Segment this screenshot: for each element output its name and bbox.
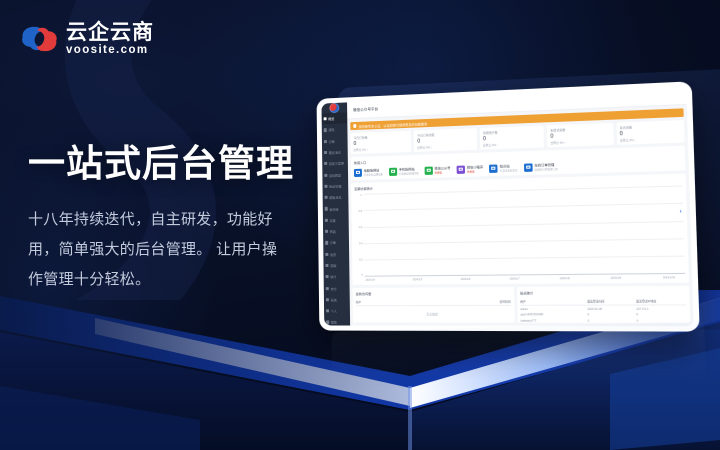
- wechat-icon: [424, 166, 432, 174]
- fans-icon: [324, 185, 327, 188]
- knowledge-icon: [489, 164, 498, 173]
- col-user: 用户: [520, 299, 587, 303]
- quick-entry-sub: 高效的订单管理工具: [534, 167, 557, 172]
- sidebar-item-label: 图文消息: [329, 150, 341, 155]
- dashboard-icon: [324, 117, 327, 120]
- x-tick-5: 2024/1/9: [611, 277, 621, 280]
- y-tick-0: 1: [360, 194, 361, 197]
- article-icon: [324, 151, 327, 154]
- brand-logo[interactable]: 云企云商 voosite.com: [20, 22, 154, 57]
- site-stats-title: 站点统计: [520, 289, 686, 295]
- quick-entry-item-4[interactable]: 知识站打造企业知识库: [489, 162, 517, 173]
- stat-compare: 比昨日 0% ↑: [620, 136, 681, 142]
- chart-toolbox[interactable]: ··· ⬇: [679, 205, 682, 213]
- y-tick-1: 0.8: [359, 210, 363, 213]
- help-icon: [326, 321, 329, 324]
- chart-tool-label: ···: [679, 205, 682, 207]
- sidebar-item-label: 模板消息: [329, 195, 341, 200]
- quick-entry-name: 电脑版网站: [364, 167, 383, 173]
- media-icon: [325, 207, 328, 210]
- sidebar-item-label: 帮助: [331, 320, 337, 325]
- app-sidebar: 概览通知订单图文消息自定义菜单自动回复粉丝管理模板消息素材库文章商品订单会员营销…: [321, 102, 350, 325]
- quick-entry-name: 微信公众号: [434, 165, 450, 171]
- site-stats-card: 站点统计 用户 最近登录时间 最近登录IP地址 admin2024-01-091…: [517, 286, 691, 323]
- sidebar-item-8[interactable]: 素材库: [323, 203, 349, 215]
- info-circle-icon: [353, 124, 356, 128]
- chart-plot-area: 10.80.60.40.20 ··· ⬇: [354, 185, 685, 277]
- sidebar-item-17[interactable]: 个人: [324, 305, 350, 316]
- y-tick-3: 0.4: [359, 242, 363, 245]
- gridline-2: [364, 221, 684, 228]
- col-last-ip: 最近登录IP地址: [636, 299, 686, 303]
- sidebar-item-label: 支付: [330, 286, 336, 291]
- system-icon: [326, 298, 329, 301]
- stat-card-0: 今日订单量0比昨日 0% ↑: [350, 131, 411, 155]
- sidebar-item-4[interactable]: 自定义菜单: [322, 157, 348, 169]
- table-row: baibaihui77700: [521, 318, 687, 324]
- miniprogram-icon: [457, 165, 465, 173]
- sidebar-item-5[interactable]: 自动回复: [322, 169, 348, 181]
- sidebar-item-18[interactable]: 帮助: [324, 317, 350, 326]
- sidebar-item-label: 营销: [330, 263, 336, 268]
- sidebar-item-7[interactable]: 模板消息: [323, 191, 349, 203]
- brand-name-en: voosite.com: [66, 45, 154, 57]
- sidebar-item-label: 商品: [330, 229, 336, 234]
- sidebar-item-13[interactable]: 营销: [323, 260, 349, 272]
- sidebar-item-label: 统计: [330, 274, 336, 279]
- sidebar-item-label: 自动回复: [329, 172, 341, 177]
- x-tick-4: 2024/1/8: [560, 277, 570, 280]
- brand-name-cn: 云企云商: [66, 22, 154, 43]
- sidebar-item-label: 文章: [329, 217, 335, 222]
- quick-entry-item-5[interactable]: 在线订单管理高效的订单管理工具: [524, 161, 558, 172]
- hero-banner: 云企云商 voosite.com 一站式后台管理 十八年持续迭代，自主研发，功能…: [0, 0, 720, 450]
- quick-entry-sub: 免费版: [467, 170, 483, 175]
- quick-entry-sub: 打造企业品牌形象: [364, 173, 383, 178]
- gridline-1: [363, 203, 683, 211]
- sidebar-item-14[interactable]: 统计: [324, 271, 350, 283]
- goods-icon: [325, 230, 328, 233]
- doc-icon: [325, 219, 328, 222]
- stat-card-3: 新增访客数0比昨日 0% ↑: [547, 123, 613, 148]
- cloud-yinyang-logo-icon: [20, 24, 58, 54]
- user-icon: [326, 309, 329, 312]
- order-mgmt-icon: [524, 163, 533, 172]
- quick-entry-name: 知识站: [500, 162, 518, 168]
- visitor-chart-card: 近期访客统计 10.80.60.40.20 ··· ⬇ 2024/1/42024…: [351, 174, 689, 285]
- sidebar-item-label: 粉丝管理: [329, 183, 341, 188]
- topbar-title: 微信公众号平台: [353, 107, 378, 113]
- stat-card-1: 今日订单金额0比昨日 0% ↑: [414, 128, 477, 152]
- sidebar-item-6[interactable]: 粉丝管理: [322, 180, 348, 192]
- sidebar-item-16[interactable]: 系统: [324, 294, 350, 306]
- cart-icon: [325, 241, 328, 244]
- tablet-screen: 概览通知订单图文消息自定义菜单自动回复粉丝管理模板消息素材库文章商品订单会员营销…: [321, 87, 693, 326]
- stat-compare: 比昨日 0% ↑: [417, 143, 473, 149]
- x-tick-3: 2024/1/7: [510, 277, 520, 280]
- sidebar-item-10[interactable]: 商品: [323, 225, 349, 237]
- x-tick-0: 2024/1/4: [366, 279, 375, 282]
- stat-compare: 比昨日 0% ↑: [354, 146, 409, 152]
- sidebar-item-12[interactable]: 会员: [323, 248, 349, 260]
- app-content: 您的账号未认证，认证后即可使用更多的功能服务 今日订单量0比昨日 0% ↑今日订…: [347, 105, 693, 326]
- sidebar-item-label: 自定义菜单: [329, 161, 344, 166]
- promo-icon: [325, 264, 328, 267]
- quick-entry-item-1[interactable]: 手机版网站打造移动营销阵地: [389, 166, 419, 177]
- y-tick-5: 0: [362, 274, 363, 277]
- sidebar-item-11[interactable]: 订单: [323, 237, 349, 249]
- x-tick-6: 2024/1/10: [663, 276, 675, 279]
- quick-entry-name: 手机版网站: [399, 166, 419, 172]
- x-tick-2: 2024/1/6: [461, 278, 471, 281]
- tablet-frame: 概览通知订单图文消息自定义菜单自动回复粉丝管理模板消息素材库文章商品订单会员营销…: [317, 81, 700, 331]
- gridline-3: [364, 238, 684, 244]
- mobile-icon: [389, 167, 397, 175]
- sidebar-item-label: 通知: [328, 127, 334, 132]
- stat-card-2: 新增用户数0比昨日 0% ↑: [480, 126, 545, 150]
- bottom-panels: 最新访问量 用户 访问时间 暂无数据 站点统计 用户: [353, 286, 691, 323]
- stat-compare: 比昨日 0% ↑: [550, 138, 610, 144]
- menu-icon: [324, 162, 327, 165]
- sidebar-item-label: 会员: [330, 251, 336, 256]
- col-last-login: 最近登录时间: [587, 299, 636, 303]
- bell-icon: [324, 128, 327, 131]
- download-icon[interactable]: ⬇: [679, 209, 682, 213]
- quick-entry-sub: 打造企业知识库: [500, 169, 518, 174]
- y-tick-2: 0.6: [359, 226, 363, 229]
- quick-entry-item-0[interactable]: 电脑版网站打造企业品牌形象: [354, 167, 383, 178]
- latest-visits-title: 最新访问量: [356, 290, 511, 296]
- sidebar-item-label: 概览: [328, 116, 334, 121]
- latest-visits-card: 最新访问量 用户 访问时间 暂无数据: [353, 287, 515, 323]
- gridline-4: [364, 256, 684, 261]
- quick-entry-sub: 打造移动营销阵地: [399, 172, 419, 177]
- col-time: 访问时间: [445, 299, 511, 303]
- sidebar-item-label: 订单: [328, 138, 334, 143]
- reply-icon: [324, 173, 327, 176]
- app-logo-icon: [329, 103, 339, 113]
- hero-headline: 一站式后台管理: [28, 133, 294, 187]
- sidebar-item-9[interactable]: 文章: [323, 214, 349, 226]
- app-main: 微信公众号平台 您的账号未认证，认证后即可使用更多的功能服务 今日订单量0比昨日…: [347, 87, 694, 326]
- quick-entry-sub: 免费版: [435, 171, 451, 176]
- x-tick-1: 2024/1/5: [413, 278, 423, 281]
- sidebar-item-label: 订单: [330, 240, 336, 245]
- chart-icon: [326, 275, 329, 278]
- sidebar-item-15[interactable]: 支付: [324, 282, 350, 294]
- alert-text: 您的账号未认证，认证后即可使用更多的功能服务: [359, 121, 428, 129]
- quick-entry-name: 微信小程序: [467, 164, 483, 170]
- quick-entry-item-2[interactable]: 微信公众号免费版: [424, 165, 450, 176]
- order-icon: [324, 140, 327, 143]
- desktop-icon: [354, 168, 362, 176]
- sidebar-item-label: 个人: [331, 308, 337, 313]
- template-icon: [325, 196, 328, 199]
- member-icon: [325, 252, 328, 255]
- hero-subcopy: 十八年持续迭代，自主研发，功能好用，简单强大的后台管理。 让用户操作管理十分轻松…: [28, 205, 290, 295]
- pay-icon: [326, 287, 329, 290]
- sidebar-item-2[interactable]: 订单: [322, 135, 348, 147]
- quick-entry-item-3[interactable]: 微信小程序免费版: [457, 164, 484, 175]
- chart-gridlines: [363, 185, 685, 277]
- tablet-device: 概览通知订单图文消息自定义菜单自动回复粉丝管理模板消息素材库文章商品订单会员营销…: [317, 80, 719, 340]
- brand-logo-text: 云企云商 voosite.com: [66, 22, 154, 57]
- site-stats-rows: admin2024-01-09127.0.0.1yqyz136515530800…: [520, 306, 687, 325]
- sidebar-item-3[interactable]: 图文消息: [322, 146, 348, 158]
- quick-entry-name: 在线订单管理: [534, 161, 557, 167]
- stat-card-4: 总访问量0比昨日 0% ↑: [616, 120, 684, 145]
- sidebar-menu: 概览通知订单图文消息自定义菜单自动回复粉丝管理模板消息素材库文章商品订单会员营销…: [322, 112, 351, 326]
- col-user: 用户: [356, 300, 445, 304]
- stat-compare: 比昨日 0% ↑: [483, 141, 541, 147]
- sidebar-item-label: 素材库: [329, 206, 338, 211]
- table-header: 用户 最近登录时间 最近登录IP地址: [520, 297, 686, 306]
- y-tick-4: 0.2: [359, 258, 363, 261]
- sidebar-item-label: 系统: [331, 297, 337, 302]
- empty-state-text: 暂无数据: [356, 306, 511, 317]
